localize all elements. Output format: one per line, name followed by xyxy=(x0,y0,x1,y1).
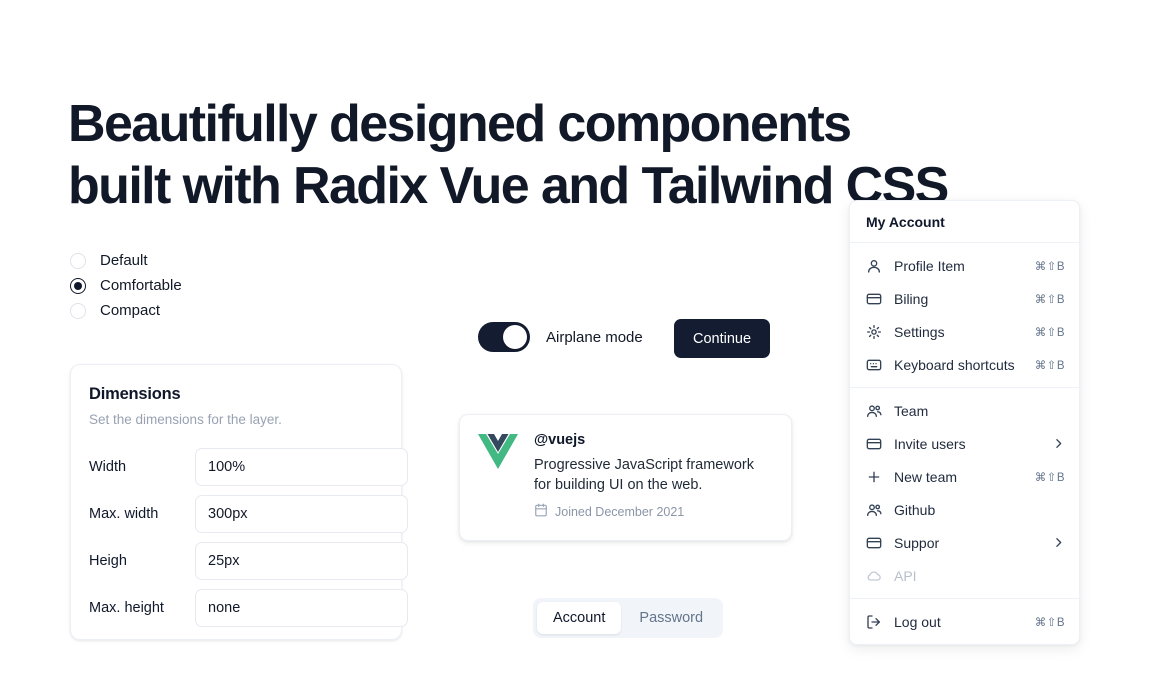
vuejs-hover-card: @vuejs Progressive JavaScript framework … xyxy=(459,414,792,541)
menu-item-invite-users[interactable]: Invite users xyxy=(850,427,1079,460)
dimension-label: Heigh xyxy=(89,553,195,569)
radio-indicator[interactable] xyxy=(70,278,86,294)
credit-card-icon xyxy=(866,291,882,307)
dimension-input-width[interactable] xyxy=(195,448,408,486)
dimension-input-max-width[interactable] xyxy=(195,495,408,533)
menu-item-api: API xyxy=(850,559,1079,592)
dimension-input-max-height[interactable] xyxy=(195,589,408,627)
page-title: Beautifully designed components built wi… xyxy=(68,93,1028,217)
radio-option-comfortable[interactable]: Comfortable xyxy=(70,273,182,298)
density-radio-group: DefaultComfortableCompact xyxy=(70,248,182,323)
users-icon xyxy=(866,502,882,518)
dimension-field-row: Max. height xyxy=(89,588,383,628)
hover-card-description: Progressive JavaScript framework for bui… xyxy=(534,455,773,495)
radio-label: Default xyxy=(100,253,148,269)
menu-item-label: Invite users xyxy=(894,436,1040,452)
radio-indicator[interactable] xyxy=(70,303,86,319)
menu-item-label: Log out xyxy=(894,614,1023,630)
menu-item-label: Profile Item xyxy=(894,258,1023,274)
credit-card-icon xyxy=(866,535,882,551)
menu-header: My Account xyxy=(850,201,1079,242)
gear-icon xyxy=(866,324,882,340)
menu-item-label: New team xyxy=(894,469,1023,485)
menu-item-suppor[interactable]: Suppor xyxy=(850,526,1079,559)
menu-group: TeamInvite usersNew team⌘⇧BGithubSupporA… xyxy=(850,388,1079,598)
menu-item-shortcut: ⌘⇧B xyxy=(1035,615,1065,629)
menu-item-github[interactable]: Github xyxy=(850,493,1079,526)
radio-indicator[interactable] xyxy=(70,253,86,269)
page-root: Beautifully designed components built wi… xyxy=(0,0,1152,700)
menu-item-new-team[interactable]: New team⌘⇧B xyxy=(850,460,1079,493)
menu-item-settings[interactable]: Settings⌘⇧B xyxy=(850,315,1079,348)
menu-item-label: Keyboard shortcuts xyxy=(894,357,1023,373)
dimensions-subtitle: Set the dimensions for the layer. xyxy=(89,412,383,427)
plus-icon xyxy=(866,469,882,485)
hover-card-joined: Joined December 2021 xyxy=(534,503,773,520)
dimensions-title: Dimensions xyxy=(89,385,383,404)
hover-card-joined-text: Joined December 2021 xyxy=(555,505,684,519)
radio-dot xyxy=(74,282,82,290)
calendar-icon xyxy=(534,503,548,520)
menu-item-log-out[interactable]: Log out⌘⇧B xyxy=(850,605,1079,638)
dimension-input-heigh[interactable] xyxy=(195,542,408,580)
user-icon xyxy=(866,258,882,274)
menu-group: Log out⌘⇧B xyxy=(850,599,1079,644)
chevron-right-icon xyxy=(1052,437,1065,450)
airplane-mode-label: Airplane mode xyxy=(546,329,643,346)
dimensions-fields: WidthMax. widthHeighMax. height xyxy=(89,447,383,628)
logout-icon xyxy=(866,614,882,630)
radio-label: Compact xyxy=(100,303,160,319)
menu-item-shortcut: ⌘⇧B xyxy=(1035,259,1065,273)
menu-item-keyboard-shortcuts[interactable]: Keyboard shortcuts⌘⇧B xyxy=(850,348,1079,381)
menu-item-team[interactable]: Team xyxy=(850,394,1079,427)
airplane-mode-row: Airplane mode xyxy=(478,322,643,352)
menu-item-label: Suppor xyxy=(894,535,1040,551)
radio-option-default[interactable]: Default xyxy=(70,248,182,273)
credit-card-icon xyxy=(866,436,882,452)
account-dropdown-menu: My Account Profile Item⌘⇧BBiling⌘⇧BSetti… xyxy=(849,200,1080,645)
menu-item-shortcut: ⌘⇧B xyxy=(1035,325,1065,339)
menu-item-biling[interactable]: Biling⌘⇧B xyxy=(850,282,1079,315)
menu-item-profile-item[interactable]: Profile Item⌘⇧B xyxy=(850,249,1079,282)
menu-item-shortcut: ⌘⇧B xyxy=(1035,470,1065,484)
tab-account[interactable]: Account xyxy=(537,602,621,634)
hover-card-handle: @vuejs xyxy=(534,432,773,448)
airplane-mode-switch[interactable] xyxy=(478,322,530,352)
dimensions-card: Dimensions Set the dimensions for the la… xyxy=(70,364,402,640)
menu-group: Profile Item⌘⇧BBiling⌘⇧BSettings⌘⇧BKeybo… xyxy=(850,243,1079,387)
dimension-field-row: Width xyxy=(89,447,383,487)
switch-knob xyxy=(503,325,527,349)
dimension-field-row: Max. width xyxy=(89,494,383,534)
menu-item-shortcut: ⌘⇧B xyxy=(1035,292,1065,306)
menu-item-label: Biling xyxy=(894,291,1023,307)
menu-item-label: API xyxy=(894,568,1065,584)
radio-label: Comfortable xyxy=(100,278,182,294)
page-title-line-1: Beautifully designed components xyxy=(68,93,1028,155)
menu-item-label: Settings xyxy=(894,324,1023,340)
cloud-icon xyxy=(866,568,882,584)
dimension-label: Width xyxy=(89,459,195,475)
dimension-label: Max. height xyxy=(89,600,195,616)
menu-item-label: Team xyxy=(894,403,1065,419)
keyboard-icon xyxy=(866,357,882,373)
radio-option-compact[interactable]: Compact xyxy=(70,298,182,323)
menu-item-label: Github xyxy=(894,502,1065,518)
users-icon xyxy=(866,403,882,419)
menu-item-shortcut: ⌘⇧B xyxy=(1035,358,1065,372)
dimension-field-row: Heigh xyxy=(89,541,383,581)
continue-button[interactable]: Continue xyxy=(674,319,770,358)
menu-groups: Profile Item⌘⇧BBiling⌘⇧BSettings⌘⇧BKeybo… xyxy=(850,243,1079,644)
vue-logo-icon xyxy=(478,434,518,470)
settings-tabs: AccountPassword xyxy=(533,598,723,638)
chevron-right-icon xyxy=(1052,536,1065,549)
tab-password[interactable]: Password xyxy=(623,602,719,634)
hover-card-body: @vuejs Progressive JavaScript framework … xyxy=(534,432,773,523)
dimension-label: Max. width xyxy=(89,506,195,522)
